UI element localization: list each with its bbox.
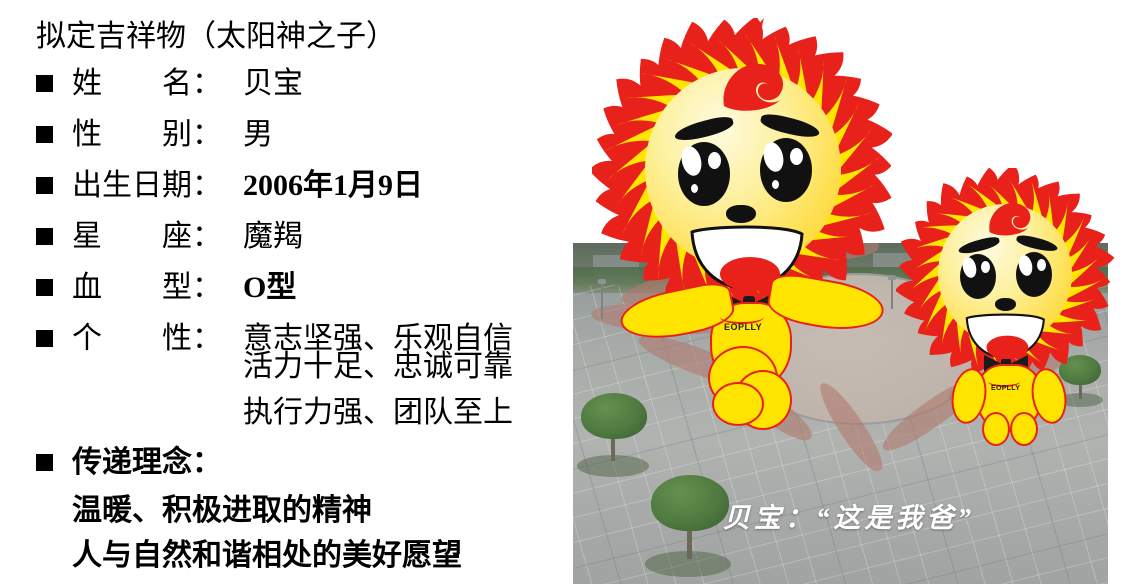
profile-label: 血 型： (72, 266, 222, 310)
profile-value: 贝宝 (243, 62, 303, 106)
profile-label: 星 座： (72, 215, 222, 259)
eye-right-glint (790, 148, 803, 165)
eye-right-glint (1037, 259, 1046, 271)
text-column: 拟定吉祥物（太阳神之子） 姓 名： 贝宝 性 别： 男 出生日期： 2006年1… (0, 0, 575, 584)
idea-heading: 传递理念： (72, 441, 222, 485)
bullet-square-icon (36, 228, 53, 245)
profile-value: 男 (243, 113, 273, 157)
eye-left-glint (981, 261, 990, 273)
profile-label: 姓 名： (72, 62, 222, 106)
personality-line-3: 执行力强、团队至上 (243, 391, 513, 435)
logo-text: EOPLLY (991, 385, 1020, 392)
slide-canvas: 拟定吉祥物（太阳神之子） 姓 名： 贝宝 性 别： 男 出生日期： 2006年1… (0, 0, 1136, 584)
logo-text: EOPLLY (724, 322, 762, 332)
forelock-icon (710, 54, 800, 114)
leg-right (1010, 412, 1038, 446)
sun-mascot-large: EOPLLY (592, 18, 892, 428)
photo-caption: 贝宝：“这是我爸” (723, 503, 975, 533)
personality-line-2: 活力十足、忠诚可靠 (243, 345, 513, 389)
profile-value: O型 (243, 266, 296, 310)
idea-heading-row: 传递理念： (0, 441, 222, 489)
eye-left-glint-small (691, 184, 698, 193)
profile-label: 出生日期： (72, 164, 222, 208)
bullet-square-icon (36, 75, 53, 92)
foot (712, 382, 764, 426)
forelock-icon (980, 196, 1042, 238)
bullet-square-icon (36, 177, 53, 194)
profile-label: 性 别： (72, 113, 222, 157)
idea-line-2: 人与自然和谐相处的美好愿望 (72, 534, 462, 578)
idea-line-1: 温暖、积极进取的精神 (72, 489, 372, 533)
sun-mascot-small: EOPLLY (896, 168, 1116, 428)
bullet-square-icon (36, 454, 53, 471)
bullet-square-icon (36, 330, 53, 347)
profile-label: 个 性： (72, 317, 222, 361)
nose (995, 298, 1016, 311)
list-item: 血 型： O型 (0, 266, 575, 317)
eye-left-glint (708, 152, 721, 169)
page-title: 拟定吉祥物（太阳神之子） (36, 20, 396, 54)
bullet-square-icon (36, 126, 53, 143)
profile-value: 魔羯 (243, 215, 303, 259)
list-item: 出生日期： 2006年1月9日 (0, 164, 575, 215)
eye-right-glint-small (772, 180, 779, 189)
profile-list: 姓 名： 贝宝 性 别： 男 出生日期： 2006年1月9日 星 座： 魔羯 (0, 62, 575, 368)
list-item: 星 座： 魔羯 (0, 215, 575, 266)
bullet-square-icon (36, 279, 53, 296)
profile-value: 2006年1月9日 (243, 164, 423, 208)
nose (726, 205, 756, 223)
list-item: 姓 名： 贝宝 (0, 62, 575, 113)
list-item: 性 别： 男 (0, 113, 575, 164)
leg-left (982, 412, 1010, 446)
